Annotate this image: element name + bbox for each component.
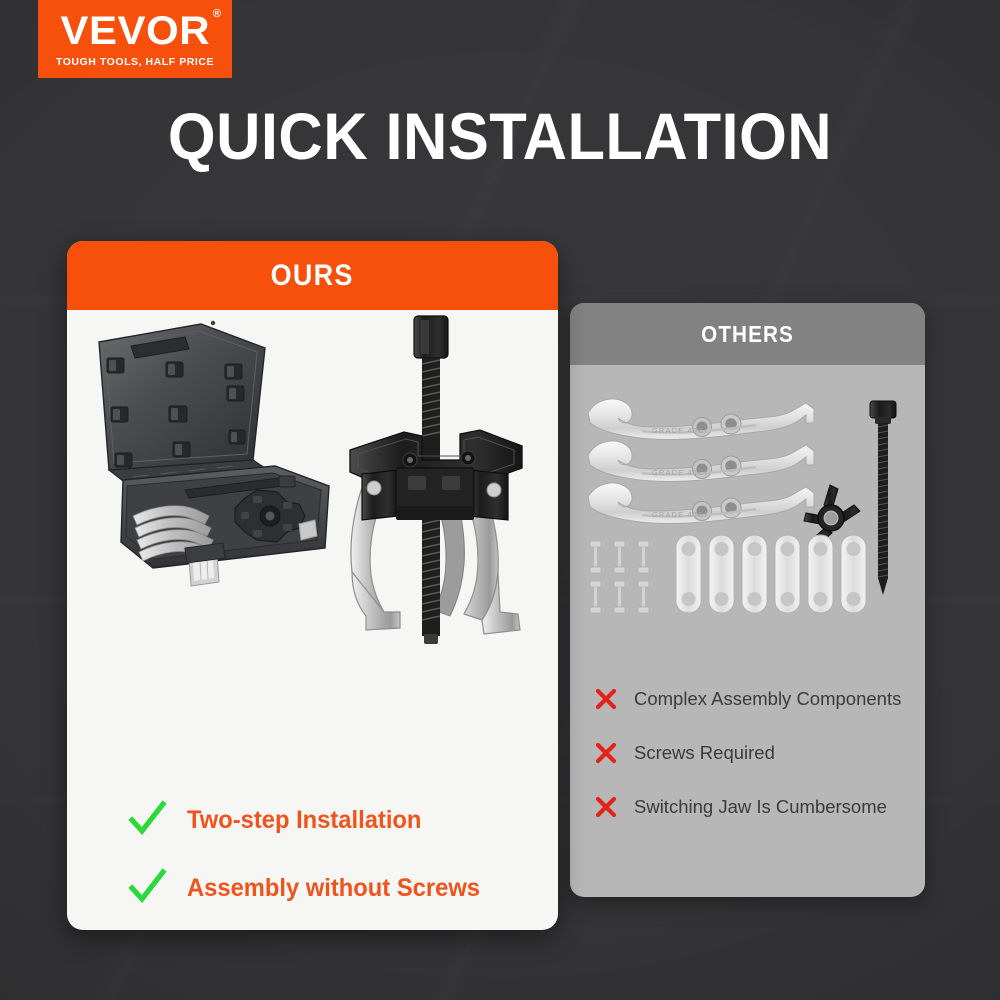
puller-clamp-block [362,468,508,520]
others-card-title: OTHERS [701,321,794,348]
logo-wordmark: VEVOR® [60,11,210,51]
ours-card-body: Two-step Installation Assembly without S… [67,310,558,930]
list-item: Screws Required [594,741,901,765]
list-item-label: Complex Assembly Components [634,688,901,710]
infographic-stage: VEVOR® TOUGH TOOLS, HALF PRICE QUICK INS… [0,0,1000,1000]
others-card-header: OTHERS [570,303,925,365]
ours-card: OURS [67,241,558,930]
others-card-body: GRADE 40Cr GRADE 40Cr [570,365,925,897]
list-item-label: Screws Required [634,742,775,764]
list-item: Two-step Installation [127,800,495,840]
case-lid [99,321,265,470]
page-title: QUICK INSTALLATION [35,103,965,169]
cross-icon [594,795,618,819]
case-latch [185,543,225,586]
svg-text:GRADE 40Cr: GRADE 40Cr [652,468,708,477]
case-base [121,466,329,568]
ours-feature-list: Two-step Installation Assembly without S… [127,800,495,908]
cross-icon [594,741,618,765]
registered-trademark-icon: ® [212,9,221,20]
check-icon [127,868,167,908]
others-card: OTHERS [570,303,925,897]
cross-icon [594,687,618,711]
list-item: Switching Jaw Is Cumbersome [594,795,901,819]
logo-wordmark-text: VEVOR [60,9,210,53]
jaw-arm-group: GRADE 40Cr GRADE 40Cr [588,399,814,524]
ours-card-header: OURS [67,241,558,310]
list-item-label: Switching Jaw Is Cumbersome [634,796,887,818]
logo-tagline: TOUGH TOOLS, HALF PRICE [56,56,214,68]
check-icon [127,800,167,840]
svg-text:GRADE 40Cr: GRADE 40Cr [652,510,708,519]
vevor-logo: VEVOR® TOUGH TOOLS, HALF PRICE [38,0,232,78]
bolt-group [590,541,649,613]
others-drawback-list: Complex Assembly Components Screws Requi… [594,687,901,819]
screw-rod-part [870,401,896,595]
assembled-puller-image [322,310,552,650]
list-item: Complex Assembly Components [594,687,901,711]
list-item-label: Assembly without Screws [187,874,480,903]
list-item-label: Two-step Installation [187,806,421,835]
svg-text:GRADE 40Cr: GRADE 40Cr [652,426,708,435]
ours-card-title: OURS [271,259,354,293]
list-item: Assembly without Screws [127,868,495,908]
link-plate-group [676,535,866,613]
